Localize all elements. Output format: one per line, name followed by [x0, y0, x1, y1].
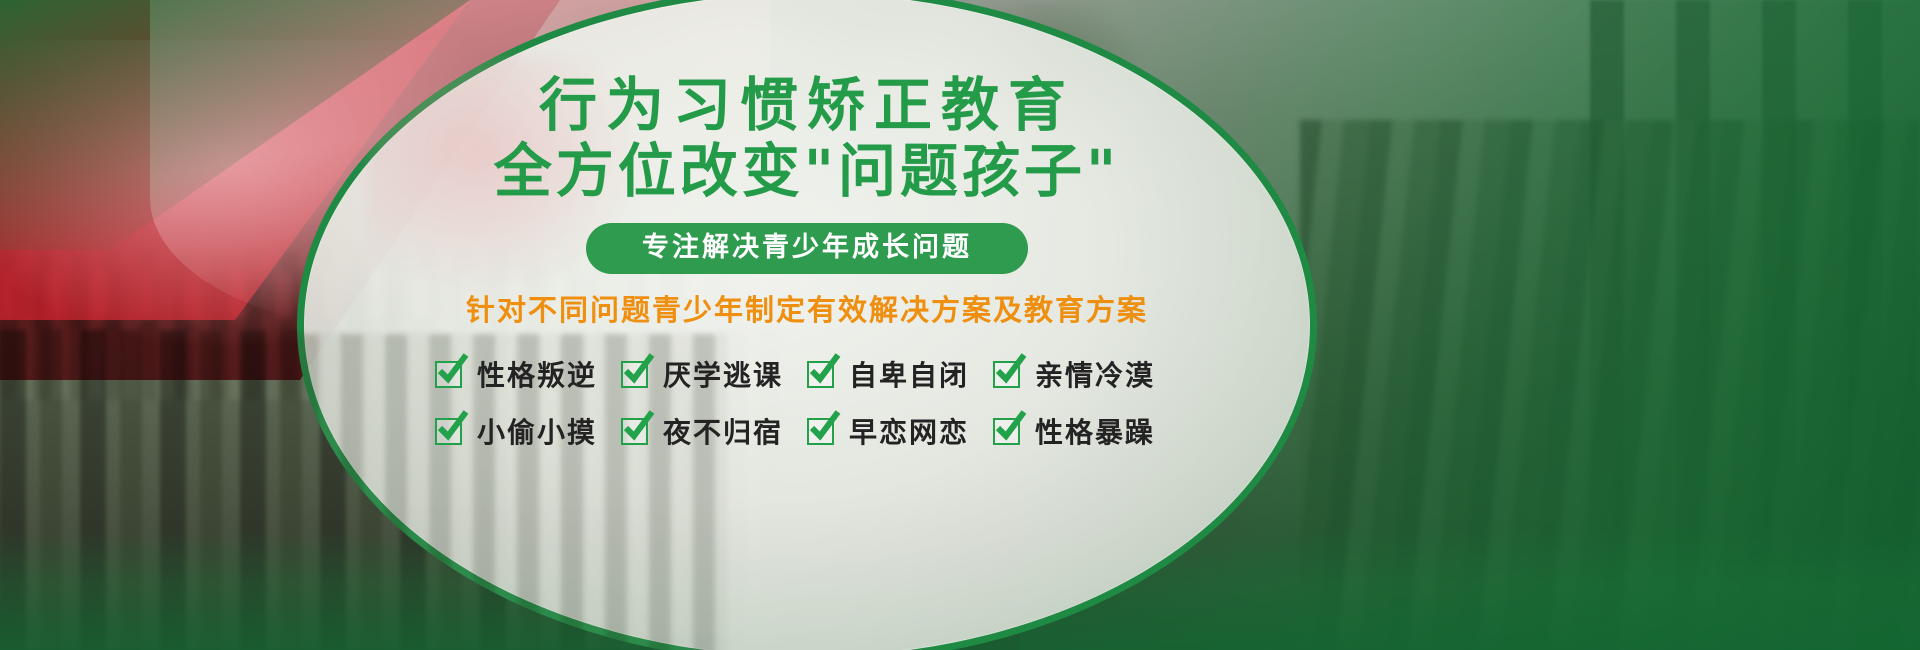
headline-line-1: 行为习惯矫正教育 — [539, 72, 1075, 138]
checkbox-checked-icon — [621, 361, 648, 388]
tag-item: 亲情冷漠 — [993, 354, 1179, 394]
checkbox-checked-icon — [621, 418, 648, 445]
subtitle-text: 针对不同问题青少年制定有效解决方案及教育方案 — [466, 293, 1148, 328]
tag-row: 小偷小摸 夜不归宿 早恋网恋 — [435, 411, 1179, 451]
tag-label: 小偷小摸 — [477, 411, 597, 451]
checkbox-checked-icon — [807, 361, 834, 388]
problem-tag-list: 性格叛逆 厌学逃课 自卑自闭 — [435, 354, 1179, 451]
checkbox-checked-icon — [993, 361, 1020, 388]
promo-banner: 行为习惯矫正教育 全方位改变"问题孩子" 专注解决青少年成长问题 针对不同问题青… — [0, 0, 1920, 650]
banner-content: 行为习惯矫正教育 全方位改变"问题孩子" 专注解决青少年成长问题 针对不同问题青… — [297, 0, 1317, 650]
tag-item: 夜不归宿 — [621, 411, 807, 451]
focus-pill-badge: 专注解决青少年成长问题 — [586, 223, 1028, 274]
tag-item: 性格暴躁 — [993, 411, 1179, 451]
checkbox-checked-icon — [993, 418, 1020, 445]
tag-label: 性格暴躁 — [1035, 411, 1155, 451]
tag-label: 自卑自闭 — [849, 354, 969, 394]
checkbox-checked-icon — [435, 418, 462, 445]
tag-label: 夜不归宿 — [663, 411, 783, 451]
tag-label: 厌学逃课 — [663, 354, 783, 394]
tag-item: 自卑自闭 — [807, 354, 993, 394]
tag-item: 性格叛逆 — [435, 354, 621, 394]
checkbox-checked-icon — [807, 418, 834, 445]
tag-row: 性格叛逆 厌学逃课 自卑自闭 — [435, 354, 1179, 394]
checkbox-checked-icon — [435, 361, 462, 388]
headline-line-2: 全方位改变"问题孩子" — [494, 138, 1120, 204]
tag-label: 性格叛逆 — [477, 354, 597, 394]
tag-label: 早恋网恋 — [849, 411, 969, 451]
tag-item: 早恋网恋 — [807, 411, 993, 451]
tag-item: 小偷小摸 — [435, 411, 621, 451]
tag-label: 亲情冷漠 — [1035, 354, 1155, 394]
tag-item: 厌学逃课 — [621, 354, 807, 394]
